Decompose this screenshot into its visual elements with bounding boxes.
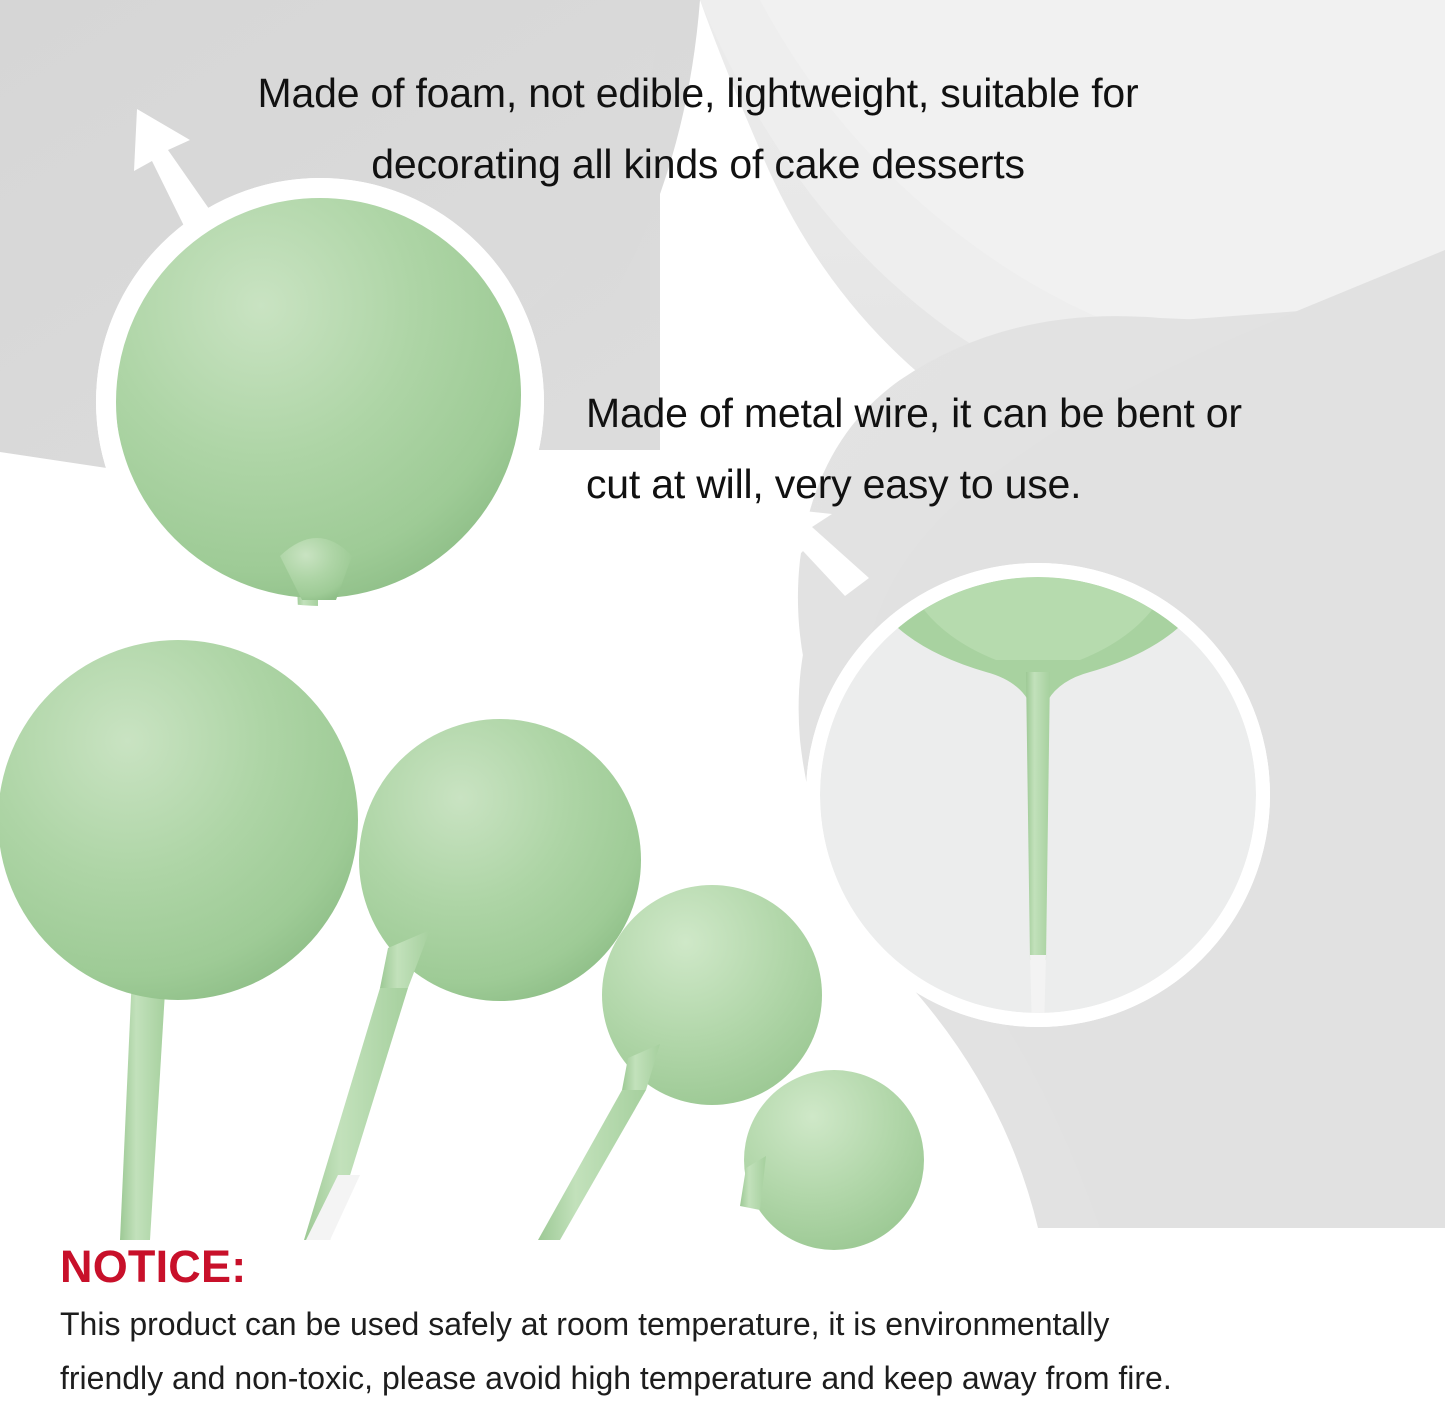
notice-block: NOTICE: This product can be used safely …	[60, 1242, 1410, 1405]
notice-body: This product can be used safely at room …	[60, 1298, 1410, 1405]
callout-text-foam: Made of foam, not edible, lightweight, s…	[108, 58, 1288, 199]
product-infographic: Made of foam, not edible, lightweight, s…	[0, 0, 1445, 1405]
notice-title: NOTICE:	[60, 1242, 1410, 1292]
callout-text-wire: Made of metal wire, it can be bent or cu…	[586, 378, 1445, 519]
product-illustration	[0, 0, 1445, 1405]
